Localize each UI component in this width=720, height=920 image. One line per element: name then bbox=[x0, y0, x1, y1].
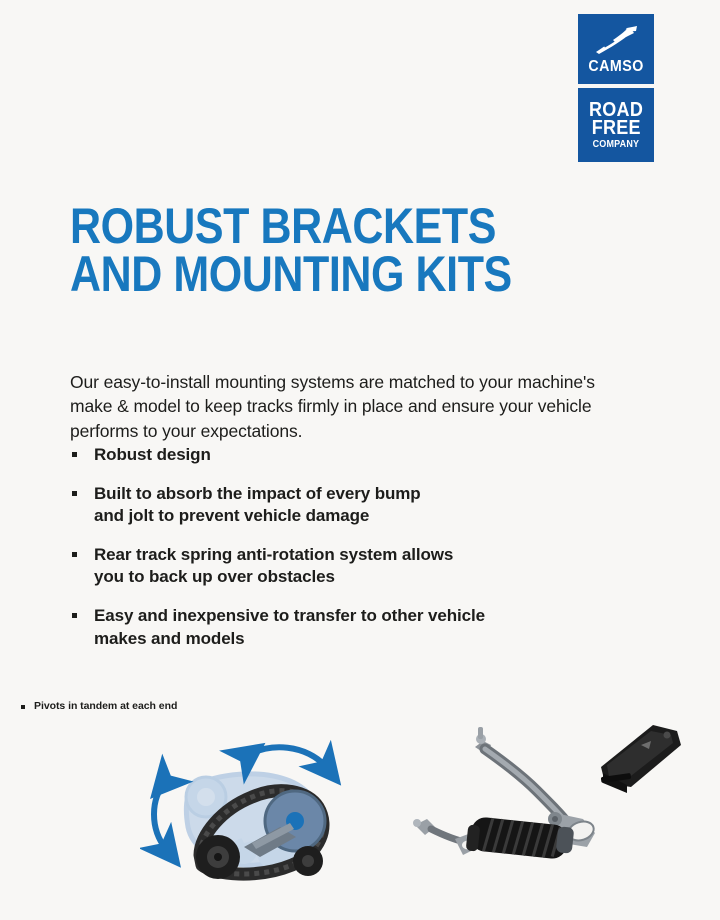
list-item: Robust design bbox=[70, 444, 626, 466]
intro-paragraph: Our easy-to-install mounting systems are… bbox=[70, 370, 626, 445]
feature-bullet-list: Robust design Built to absorb the impact… bbox=[70, 444, 626, 667]
list-item: Rear track spring anti-rotation system a… bbox=[70, 544, 626, 588]
list-item: Easy and inexpensive to transfer to othe… bbox=[70, 605, 626, 649]
pivot-footnote: Pivots in tandem at each end bbox=[20, 700, 177, 712]
camso-wordmark: CAMSO bbox=[588, 59, 643, 75]
page-title: ROBUST BRACKETS AND MOUNTING KITS bbox=[70, 202, 512, 298]
mounting-bracket-part bbox=[601, 725, 681, 793]
track-pivot-illustration bbox=[140, 735, 390, 895]
road-free-line-3: COMPANY bbox=[593, 140, 640, 149]
road-free-line-2: FREE bbox=[591, 119, 640, 137]
pivot-arrow-top bbox=[246, 747, 326, 767]
track-pivot-diagram bbox=[140, 735, 390, 895]
camso-chevron-mark bbox=[593, 25, 639, 57]
pivot-arrow-left bbox=[154, 781, 166, 849]
mounting-hardware-photo bbox=[405, 715, 700, 880]
list-item: Built to absorb the impact of every bump… bbox=[70, 483, 626, 527]
mounting-hardware-illustration bbox=[405, 715, 700, 880]
brand-logo-stack: CAMSO ROAD FREE COMPANY bbox=[578, 14, 654, 162]
camso-logo-box: CAMSO bbox=[578, 14, 654, 84]
road-free-company-logo-box: ROAD FREE COMPANY bbox=[578, 88, 654, 162]
